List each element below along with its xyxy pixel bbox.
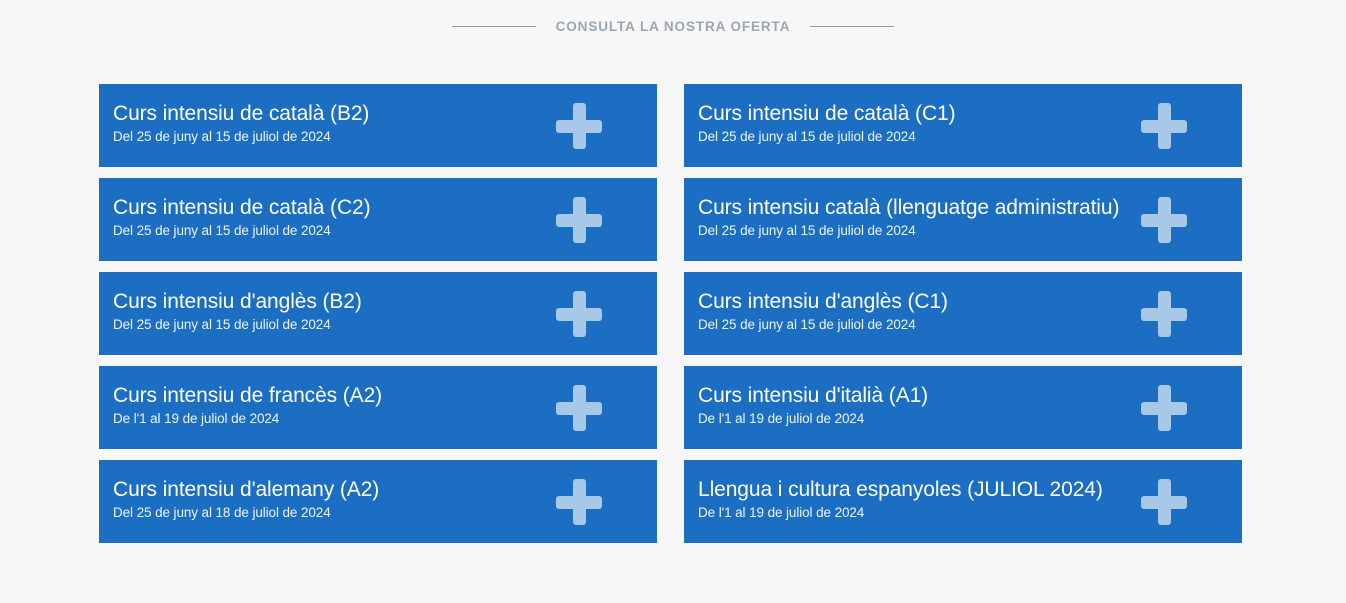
plus-icon-vertical-bar	[1158, 479, 1171, 525]
plus-icon[interactable]	[1141, 197, 1187, 243]
course-card-8[interactable]: Curs intensiu d'alemany (A2) Del 25 de j…	[99, 460, 657, 543]
plus-icon-vertical-bar	[1158, 103, 1171, 149]
plus-icon[interactable]	[556, 479, 602, 525]
section-heading: CONSULTA LA NOSTRA OFERTA	[0, 0, 1346, 35]
plus-icon[interactable]	[556, 103, 602, 149]
heading-rule-left-icon	[452, 26, 536, 27]
plus-icon[interactable]	[1141, 103, 1187, 149]
offer-section-page: CONSULTA LA NOSTRA OFERTA Curs intensiu …	[0, 0, 1346, 603]
plus-icon[interactable]	[1141, 385, 1187, 431]
plus-icon-vertical-bar	[573, 103, 586, 149]
plus-icon[interactable]	[556, 291, 602, 337]
plus-icon[interactable]	[1141, 479, 1187, 525]
course-card-0[interactable]: Curs intensiu de català (B2) Del 25 de j…	[99, 84, 657, 167]
course-card-9[interactable]: Llengua i cultura espanyoles (JULIOL 202…	[684, 460, 1242, 543]
plus-icon-vertical-bar	[573, 479, 586, 525]
plus-icon-vertical-bar	[1158, 197, 1171, 243]
plus-icon[interactable]	[1141, 291, 1187, 337]
course-card-7[interactable]: Curs intensiu d'italià (A1) De l'1 al 19…	[684, 366, 1242, 449]
course-card-3[interactable]: Curs intensiu català (llenguatge adminis…	[684, 178, 1242, 261]
plus-icon-vertical-bar	[573, 385, 586, 431]
course-card-4[interactable]: Curs intensiu d'anglès (B2) Del 25 de ju…	[99, 272, 657, 355]
heading-rule-right-icon	[810, 26, 894, 27]
plus-icon[interactable]	[556, 385, 602, 431]
plus-icon-vertical-bar	[573, 197, 586, 243]
plus-icon-vertical-bar	[1158, 291, 1171, 337]
course-card-2[interactable]: Curs intensiu de català (C2) Del 25 de j…	[99, 178, 657, 261]
course-card-6[interactable]: Curs intensiu de francès (A2) De l'1 al …	[99, 366, 657, 449]
course-cards-grid: Curs intensiu de català (B2) Del 25 de j…	[99, 84, 1241, 543]
plus-icon-vertical-bar	[1158, 385, 1171, 431]
course-card-5[interactable]: Curs intensiu d'anglès (C1) Del 25 de ju…	[684, 272, 1242, 355]
plus-icon[interactable]	[556, 197, 602, 243]
plus-icon-vertical-bar	[573, 291, 586, 337]
section-heading-label: CONSULTA LA NOSTRA OFERTA	[556, 19, 791, 34]
course-card-1[interactable]: Curs intensiu de català (C1) Del 25 de j…	[684, 84, 1242, 167]
